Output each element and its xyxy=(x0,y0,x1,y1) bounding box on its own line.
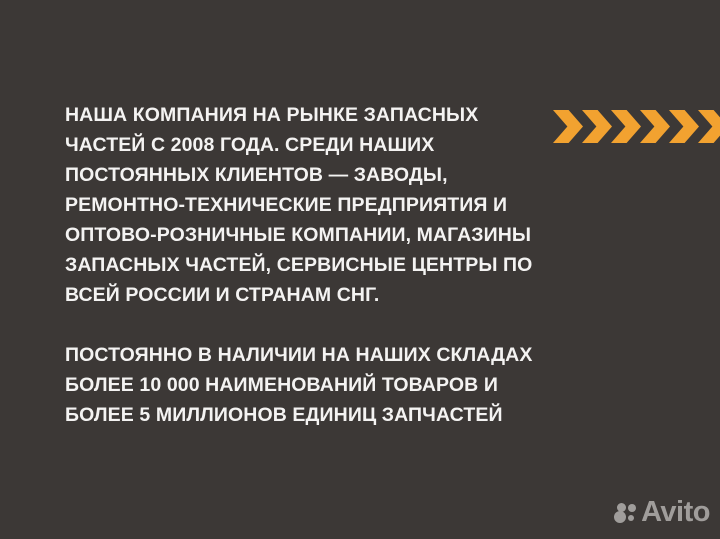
avito-dot-small xyxy=(628,504,636,512)
stock-availability-paragraph: ПОСТОЯННО В НАЛИЧИИ НА НАШИХ СКЛАДАХ БОЛ… xyxy=(65,340,610,430)
chevron-right-icon xyxy=(669,110,699,143)
chevron-right-icon xyxy=(698,110,720,143)
avito-dot-medium xyxy=(617,503,626,512)
avito-dot-large xyxy=(614,511,626,523)
avito-dots-icon xyxy=(614,501,638,525)
avito-wordmark: Avito xyxy=(641,498,710,527)
promo-banner: НАША КОМПАНИЯ НА РЫНКЕ ЗАПАСНЫХ ЧАСТЕЙ С… xyxy=(0,0,720,539)
avito-watermark: Avito xyxy=(614,498,710,527)
banner-copy: НАША КОМПАНИЯ НА РЫНКЕ ЗАПАСНЫХ ЧАСТЕЙ С… xyxy=(65,100,610,430)
chevron-right-icon xyxy=(611,110,641,143)
company-description-paragraph: НАША КОМПАНИЯ НА РЫНКЕ ЗАПАСНЫХ ЧАСТЕЙ С… xyxy=(65,100,610,310)
avito-dot-tiny xyxy=(628,515,634,521)
chevron-right-icon xyxy=(640,110,670,143)
